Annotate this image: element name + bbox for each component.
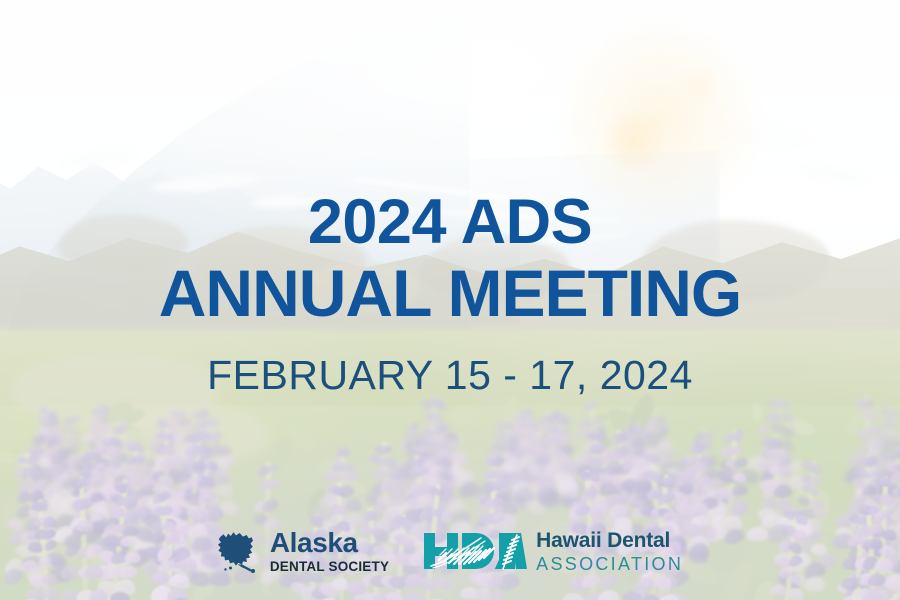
hawaii-dental-association-logo[interactable]: Hawaii Dental ASSOCIATION [423, 528, 683, 574]
headline-line-2: ANNUAL MEETING [0, 262, 900, 325]
hawaii-logo-text: Hawaii Dental ASSOCIATION [536, 530, 683, 573]
hawaii-logo-name: Hawaii Dental [536, 530, 683, 551]
sponsor-logo-lockup: Alaska DENTAL SOCIETY [0, 528, 900, 574]
hda-monogram-icon [423, 528, 527, 574]
poster-content: 2024 ADS ANNUAL MEETING FEBRUARY 15 - 17… [0, 0, 900, 600]
hawaii-logo-subtitle: ASSOCIATION [536, 555, 683, 573]
event-poster: 2024 ADS ANNUAL MEETING FEBRUARY 15 - 17… [0, 0, 900, 600]
alaska-logo-subtitle: DENTAL SOCIETY [270, 560, 389, 574]
alaska-state-outline-icon [217, 529, 263, 573]
headline-line-1: 2024 ADS [0, 192, 900, 252]
alaska-dental-society-logo[interactable]: Alaska DENTAL SOCIETY [217, 529, 389, 574]
event-dateline: FEBRUARY 15 - 17, 2024 [0, 352, 900, 399]
alaska-logo-name: Alaska [270, 529, 389, 557]
alaska-logo-text: Alaska DENTAL SOCIETY [270, 529, 389, 574]
